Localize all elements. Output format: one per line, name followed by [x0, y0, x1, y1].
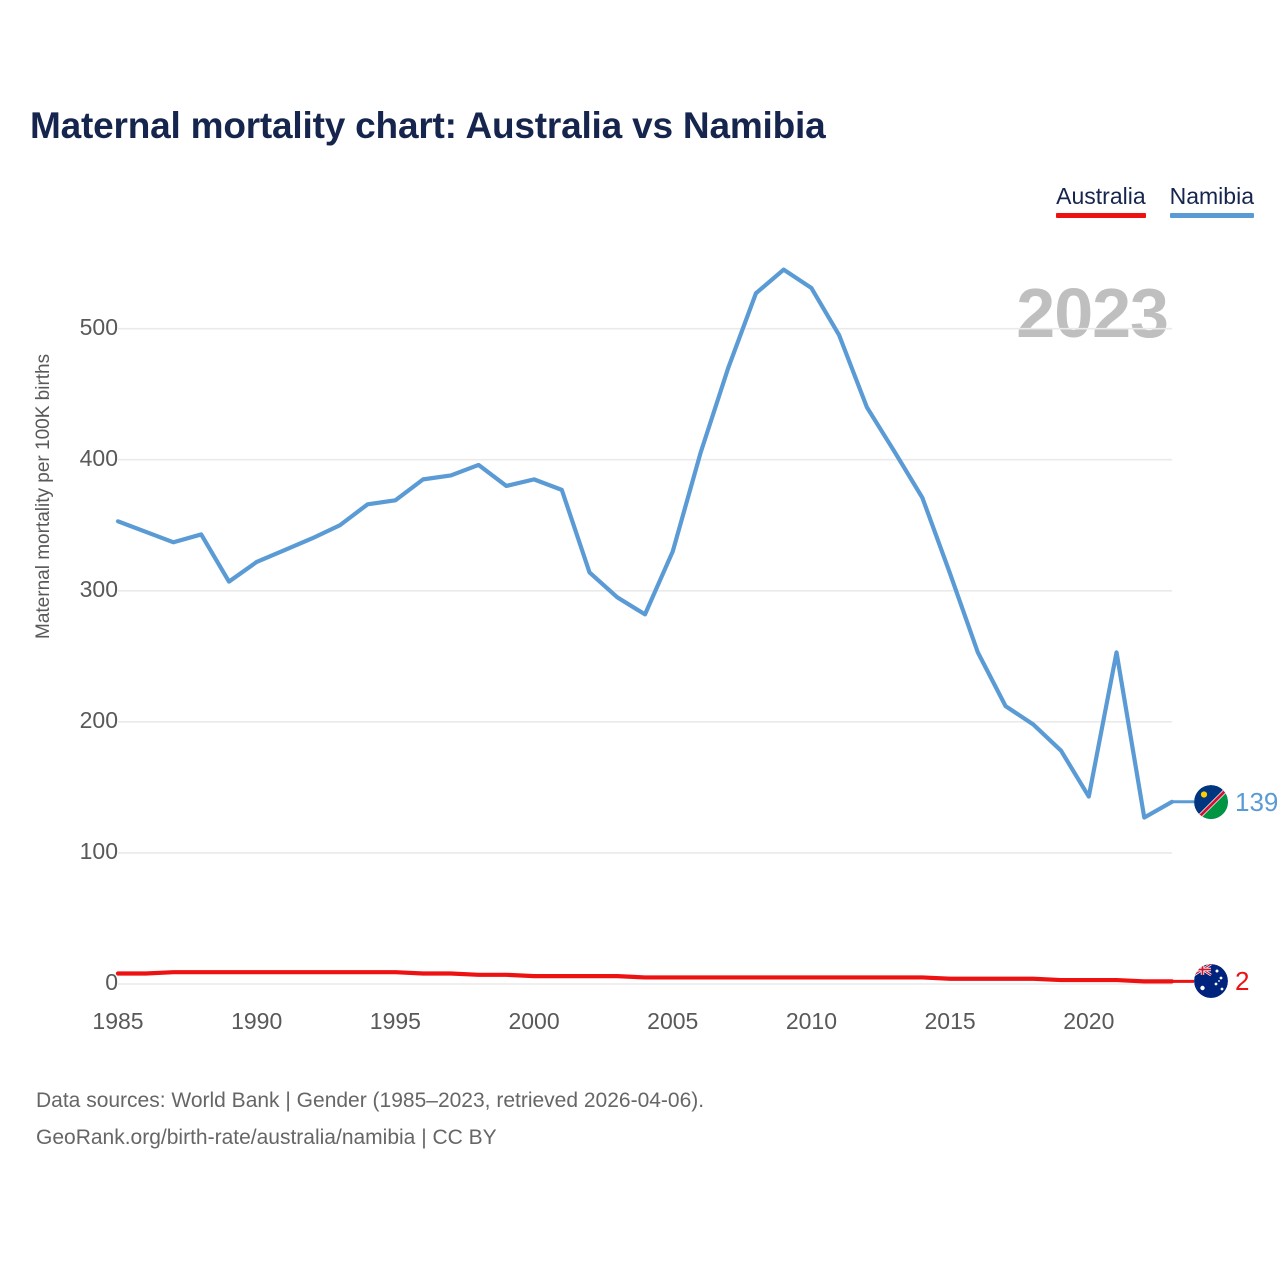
x-tick-label: 1985	[92, 1008, 143, 1035]
namibia-flag-icon	[1194, 785, 1228, 819]
x-tick-label: 2015	[925, 1008, 976, 1035]
footer-line-sources: Data sources: World Bank | Gender (1985–…	[36, 1083, 704, 1120]
x-tick-label: 1995	[370, 1008, 421, 1035]
data-lines	[118, 270, 1194, 982]
footer-note: Data sources: World Bank | Gender (1985–…	[36, 1083, 704, 1157]
footer-line-attribution: GeoRank.org/birth-rate/australia/namibia…	[36, 1120, 704, 1157]
y-tick-label: 400	[60, 445, 118, 472]
x-tick-label: 2010	[786, 1008, 837, 1035]
end-value-namibia: 139	[1235, 789, 1278, 815]
series-line-australia	[118, 972, 1172, 981]
y-tick-label: 200	[60, 707, 118, 734]
y-axis-title: Maternal mortality per 100K births	[33, 599, 55, 639]
x-tick-label: 2000	[508, 1008, 559, 1035]
x-tick-label: 1990	[231, 1008, 282, 1035]
y-tick-label: 0	[60, 969, 118, 996]
series-line-namibia	[118, 270, 1172, 818]
y-tick-label: 500	[60, 314, 118, 341]
chart-page: Maternal mortality chart: Australia vs N…	[0, 0, 1280, 1280]
x-tick-label: 2020	[1063, 1008, 1114, 1035]
end-label-australia: 2	[1194, 964, 1249, 998]
x-tick-label: 2005	[647, 1008, 698, 1035]
australia-flag-icon	[1194, 964, 1228, 998]
end-label-namibia: 139	[1194, 785, 1278, 819]
x-axis-tick-labels: 19851990199520002005201020152020	[0, 1008, 1280, 1048]
y-tick-label: 300	[60, 576, 118, 603]
y-tick-label: 100	[60, 838, 118, 865]
end-value-australia: 2	[1235, 968, 1249, 994]
gridlines	[118, 329, 1172, 984]
